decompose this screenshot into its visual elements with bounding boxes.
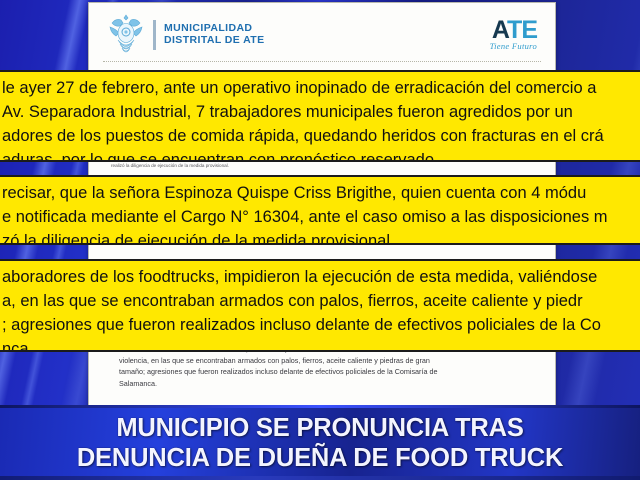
headline-line-2: DENUNCIA DE DUEÑA DE FOOD TRUCK <box>77 443 563 473</box>
banner-footer-strip <box>0 476 640 480</box>
ate-letter-a: A <box>492 16 507 44</box>
letterhead-organization-name: MUNICIPALIDAD DISTRITAL DE ATE <box>164 23 265 47</box>
magnified-line: le ayer 27 de febrero, ante un operativo… <box>0 76 640 100</box>
ate-brand-logo: ATE Tiene Futuro <box>490 19 537 52</box>
letterhead-left-group: MUNICIPALIDAD DISTRITAL DE ATE <box>107 13 265 57</box>
ate-letters-te: TE <box>507 16 537 44</box>
magnified-line: a, en las que se encontraban armados con… <box>0 289 640 313</box>
small-para-line: tamaño; agresiones que fueron realizados… <box>119 366 525 378</box>
letterhead-divider <box>153 20 156 50</box>
org-line-2: DISTRITAL DE ATE <box>164 35 265 47</box>
municipal-coat-of-arms-icon <box>107 13 145 57</box>
magnified-line: e notificada mediante el Cargo N° 16304,… <box>0 205 640 229</box>
small-para-line: Salamanca. <box>119 378 525 390</box>
doc-line: realizó la diligencia de ejecución de la… <box>111 161 533 170</box>
ate-tagline: Tiene Futuro <box>490 41 537 51</box>
magnified-line: Av. Separadora Industrial, 7 trabajadore… <box>0 100 640 124</box>
magnified-line: ; agresiones que fueron realizados inclu… <box>0 313 640 337</box>
small-para-line: violencia, en las que se encontraban arm… <box>119 355 525 367</box>
magnified-line: adores de los puestos de comida rápida, … <box>0 124 640 148</box>
magnified-line: recisar, que la señora Espinoza Quispe C… <box>0 181 640 205</box>
magnified-text-overlay-1: le ayer 27 de febrero, ante un operativo… <box>0 70 640 162</box>
headline-line-1: MUNICIPIO SE PRONUNCIA TRAS <box>116 413 523 443</box>
magnified-text-overlay-2: recisar, que la señora Espinoza Quispe C… <box>0 175 640 245</box>
magnified-text-overlay-3: aboradores de los foodtrucks, impidieron… <box>0 259 640 352</box>
ate-wordmark: ATE <box>490 19 537 43</box>
magnified-line: zó la diligencia de ejecución de la medi… <box>0 229 640 245</box>
magnified-line: aboradores de los foodtrucks, impidieron… <box>0 265 640 289</box>
letterhead-rule <box>103 61 541 62</box>
magnified-line: nca. <box>0 337 640 352</box>
lower-third-headline-banner: MUNICIPIO SE PRONUNCIA TRAS DENUNCIA DE … <box>0 408 640 480</box>
document-letterhead: MUNICIPALIDAD DISTRITAL DE ATE ATE Tiene… <box>89 9 555 61</box>
magnified-line: aduras, por lo que se encuentran con pro… <box>0 148 640 162</box>
